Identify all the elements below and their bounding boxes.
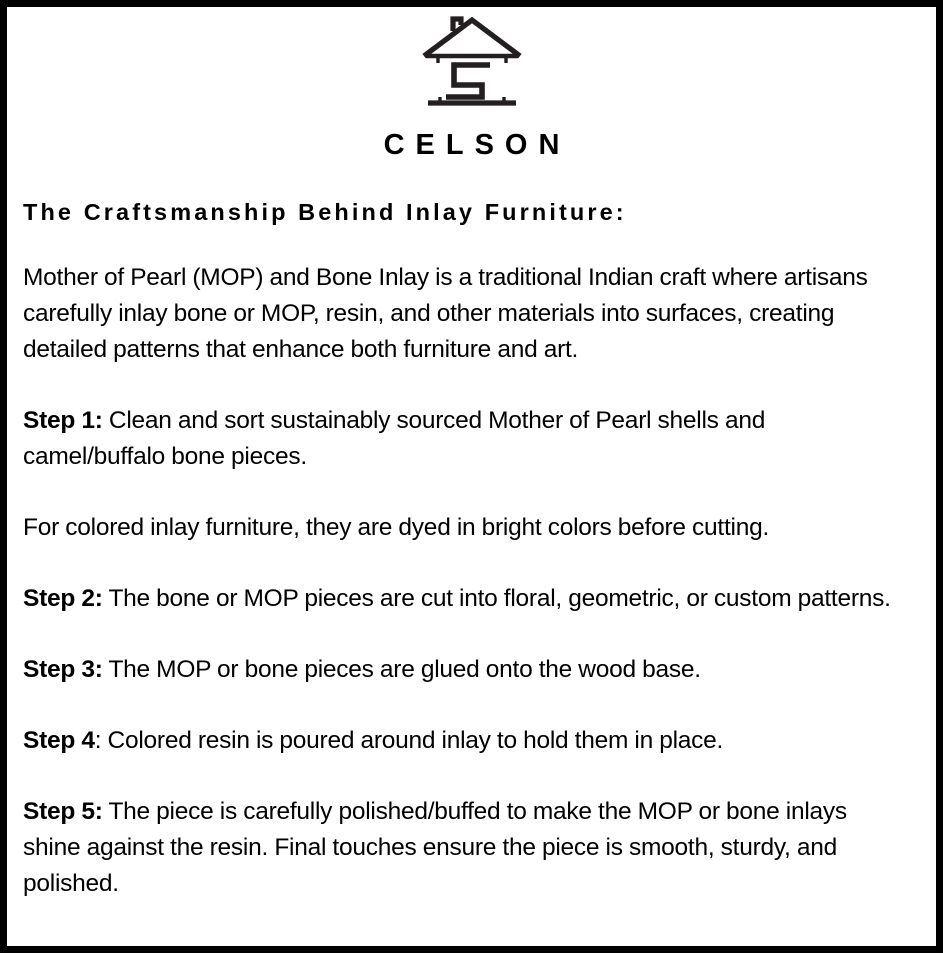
brand-logo xyxy=(16,13,927,121)
step-paragraph-5: Step 4: Colored resin is poured around i… xyxy=(23,723,907,759)
step-label-5: Step 4 xyxy=(23,727,95,754)
step-text-6: The piece is carefully polished/buffed t… xyxy=(23,798,847,897)
brand-wordmark: CELSON xyxy=(16,131,927,160)
poster-card: CELSON The Craftsmanship Behind Inlay Fu… xyxy=(0,0,943,953)
content-body: Mother of Pearl (MOP) and Bone Inlay is … xyxy=(23,226,907,902)
step-paragraph-4: Step 3: The MOP or bone pieces are glued… xyxy=(23,652,907,688)
step-paragraph-1: Step 1: Clean and sort sustainably sourc… xyxy=(23,403,907,475)
step-text-1: Clean and sort sustainably sourced Mothe… xyxy=(23,407,765,470)
step-text-4: The MOP or bone pieces are glued onto th… xyxy=(103,656,701,683)
step-text-2: For colored inlay furniture, they are dy… xyxy=(23,514,769,541)
step-label-6: Step 5: xyxy=(23,798,103,825)
step-paragraph-2: For colored inlay furniture, they are dy… xyxy=(23,510,907,546)
page-title: The Craftsmanship Behind Inlay Furniture… xyxy=(23,199,927,226)
house-monogram-icon xyxy=(418,13,526,117)
intro-text: Mother of Pearl (MOP) and Bone Inlay is … xyxy=(23,264,868,363)
intro-paragraph: Mother of Pearl (MOP) and Bone Inlay is … xyxy=(23,260,907,368)
step-label-3: Step 2: xyxy=(23,585,103,612)
step-text-5: : Colored resin is poured around inlay t… xyxy=(95,727,723,754)
step-paragraph-6: Step 5: The piece is carefully polished/… xyxy=(23,794,907,902)
step-paragraph-3: Step 2: The bone or MOP pieces are cut i… xyxy=(23,581,907,617)
step-text-3: The bone or MOP pieces are cut into flor… xyxy=(103,585,891,612)
step-label-1: Step 1: xyxy=(23,407,103,434)
step-label-4: Step 3: xyxy=(23,656,103,683)
poster-inner: CELSON The Craftsmanship Behind Inlay Fu… xyxy=(7,7,936,946)
